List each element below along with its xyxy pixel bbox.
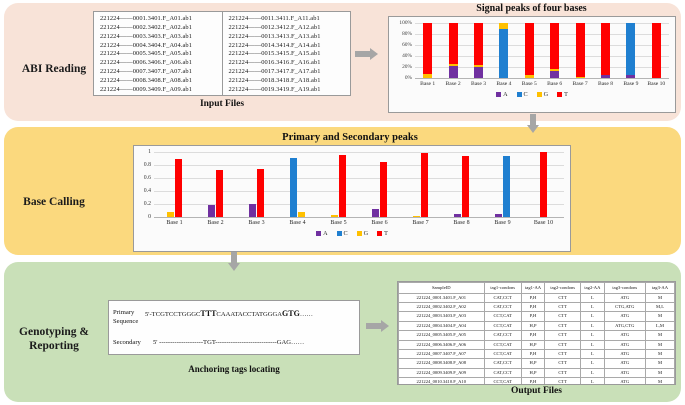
input-file-line: 221224——0005.3405.F_A05.ab1 xyxy=(100,50,218,59)
anchoring-sequence-panel: Primary Sequence 5'-TCGTCCTGGGCTTTCAAATA… xyxy=(108,300,360,355)
table-column-header: tag1-AA xyxy=(521,283,544,294)
y-axis-tick-label: 40% xyxy=(402,53,412,59)
input-file-line: 221224——0013.3413.F_A13.ab1 xyxy=(229,33,347,42)
table-cell: 221224_0004.3404.F_A04 xyxy=(399,321,485,330)
y-axis-tick-label: 0.4 xyxy=(144,188,151,194)
bar-segment-t xyxy=(576,23,585,77)
bar-segment-g xyxy=(576,77,585,78)
bar-segment-t xyxy=(550,23,559,69)
stage-label-base-calling: Base Calling xyxy=(8,195,100,209)
table-cell: L xyxy=(581,293,604,302)
signal-peaks-chart: 0%20%40%60%80%100%Base 1Base 2Base 3Base… xyxy=(388,16,676,113)
table-cell: 221224_0009.3409.F_A09 xyxy=(399,368,485,377)
chart-legend: ACGT xyxy=(134,230,570,237)
bar-segment-g xyxy=(499,23,508,29)
table-row: 221224_0010.3410.F_A10CCT,CATP,HCTTLATGM xyxy=(399,378,675,385)
table-cell: M xyxy=(645,331,674,340)
table-cell: M,L xyxy=(645,303,674,312)
table-cell: L,M xyxy=(645,321,674,330)
secondary-sequence-text: 5' --------------------TGT--------------… xyxy=(153,339,304,346)
table-cell: M xyxy=(645,293,674,302)
table-column-header: tag1-condons xyxy=(484,283,521,294)
primary-tag2: GTG xyxy=(282,309,300,318)
bar-c xyxy=(503,156,510,217)
table-row: 221224_0001.3401.F_A01CAT,CCTP,HCTTLATGM xyxy=(399,293,675,302)
input-file-line: 221224——0004.3404.F_A04.ab1 xyxy=(100,42,218,51)
bar-segment-a xyxy=(474,67,483,78)
table-cell: M xyxy=(645,350,674,359)
bar-a xyxy=(454,214,461,217)
x-axis-tick-label: Base 2 xyxy=(446,81,461,87)
stacked-bar xyxy=(626,23,635,78)
table-cell: H,P xyxy=(521,340,544,349)
legend-item-a: A xyxy=(316,230,327,237)
table-cell: L xyxy=(581,340,604,349)
bar-segment-c xyxy=(626,23,635,75)
bar-t xyxy=(380,162,387,217)
legend-swatch-g xyxy=(537,92,542,97)
table-cell: CAT,CCT xyxy=(484,359,521,368)
input-files-left-column: 221224——0001.3401.F_A01.ab1221224——0002.… xyxy=(94,12,222,95)
arrow-signal-to-basecalling-icon xyxy=(527,114,539,134)
bar-segment-g xyxy=(525,75,534,78)
legend-label-t: T xyxy=(384,230,388,237)
legend-item-a: A xyxy=(496,91,507,98)
bar-segment-t xyxy=(601,23,610,75)
primary-sequence-label2: Sequence xyxy=(113,318,138,325)
bar-segment-t xyxy=(525,23,534,75)
bar-t xyxy=(339,155,346,217)
input-file-line: 221224——0002.3402.F_A02.ab1 xyxy=(100,24,218,33)
arrow-sequence-to-output-icon xyxy=(366,320,390,332)
x-axis-tick-label: Base 7 xyxy=(412,220,428,226)
bar-segment-g xyxy=(550,69,559,71)
legend-label-g: G xyxy=(544,91,548,98)
bar-segment-t xyxy=(423,23,432,74)
table-cell: L xyxy=(581,368,604,377)
bar-a xyxy=(372,209,379,217)
table-cell: CAT,CCT xyxy=(484,303,521,312)
table-cell: CTT xyxy=(545,331,581,340)
table-cell: P,H xyxy=(521,312,544,321)
legend-label-c: C xyxy=(344,230,348,237)
x-axis-tick-label: Base 8 xyxy=(453,220,469,226)
bar-t xyxy=(175,159,182,218)
table-cell: ATG xyxy=(604,368,645,377)
stacked-bar xyxy=(499,23,508,78)
legend-label-a: A xyxy=(323,230,327,237)
primary-tag1: TTT xyxy=(200,309,216,318)
input-file-line: 221224——0001.3401.F_A01.ab1 xyxy=(100,15,218,24)
table-body: 221224_0001.3401.F_A01CAT,CCTP,HCTTLATGM… xyxy=(399,293,675,385)
table-row: 221224_0005.3405.F_A05CAT,CCTP,HCTTLATGM xyxy=(399,331,675,340)
bar-a xyxy=(208,205,215,217)
legend-label-t: T xyxy=(564,91,568,98)
table-cell: CTT xyxy=(545,359,581,368)
table-cell: CAT,CCT xyxy=(484,293,521,302)
table-cell: CTT xyxy=(545,350,581,359)
table-cell: M xyxy=(645,378,674,385)
primary-secondary-peaks-chart: 00.20.40.60.81Base 1Base 2Base 3Base 4Ba… xyxy=(133,145,571,252)
input-file-line: 221224——0015.3415.F_A15.ab1 xyxy=(229,50,347,59)
legend-label-g: G xyxy=(364,230,368,237)
x-axis-line xyxy=(415,78,669,79)
table-cell: P,H xyxy=(521,331,544,340)
table-column-header: tag2-condons xyxy=(545,283,581,294)
table-row: 221224_0003.3403.F_A03CCT,CATP,HCTTLATGM xyxy=(399,312,675,321)
table-header-row: SampleIDtag1-condonstag1-AAtag2-condonst… xyxy=(399,283,675,294)
input-files-panel: 221224——0001.3401.F_A01.ab1221224——0002.… xyxy=(93,11,351,96)
table-cell: L xyxy=(581,350,604,359)
table-cell: L xyxy=(581,312,604,321)
table-cell: M xyxy=(645,359,674,368)
table-row: 221224_0009.3409.F_A09CAT,CCTH,PCTTLATGM xyxy=(399,368,675,377)
legend-swatch-c xyxy=(517,92,522,97)
x-axis-tick-label: Base 8 xyxy=(598,81,613,87)
legend-label-c: C xyxy=(524,91,528,98)
input-files-right-column: 221224——0011.3411.F_A11.ab1221224——0012.… xyxy=(222,12,351,95)
x-axis-tick-label: Base 1 xyxy=(166,220,182,226)
bar-segment-t xyxy=(474,23,483,65)
table-cell: 221224_0010.3410.F_A10 xyxy=(399,378,485,385)
y-axis-tick-label: 0.8 xyxy=(144,162,151,168)
table-cell: 221224_0002.3402.F_A02 xyxy=(399,303,485,312)
bar-g xyxy=(413,216,420,217)
table-cell: CCT,CAT xyxy=(484,350,521,359)
primary-sequence-text: 5'-TCGTCCTGGGCTTTCAAATACCTATGGGAGTG…… xyxy=(145,309,313,318)
input-file-line: 221224——0006.3406.F_A06.ab1 xyxy=(100,59,218,68)
y-axis-tick-label: 100% xyxy=(399,20,412,26)
table-cell: L xyxy=(581,331,604,340)
output-files-table: SampleIDtag1-condonstag1-AAtag2-condonst… xyxy=(397,281,676,385)
bar-a xyxy=(249,204,256,217)
input-file-line: 221224——0009.3409.F_A09.ab1 xyxy=(100,86,218,95)
table-cell: 221224_0008.3408.F_A08 xyxy=(399,359,485,368)
arrow-basecalling-to-genotyping-icon xyxy=(228,252,240,272)
table-cell: H,P xyxy=(521,359,544,368)
bar-segment-a xyxy=(601,75,610,78)
table-cell: CAT,CCT xyxy=(484,368,521,377)
bar-segment-a xyxy=(449,66,458,78)
y-axis-tick-label: 0.6 xyxy=(144,175,151,181)
input-file-line: 221224——0018.3418.F_A18.ab1 xyxy=(229,77,347,86)
output-files-caption: Output Files xyxy=(397,386,676,396)
bar-g xyxy=(167,212,174,217)
table-cell: L xyxy=(581,303,604,312)
secondary-sequence-label: Secondary xyxy=(113,339,141,346)
bar-segment-g xyxy=(474,65,483,67)
x-axis-tick-label: Base 4 xyxy=(289,220,305,226)
stacked-bar xyxy=(601,23,610,78)
input-file-line: 221224——0016.3416.F_A16.ab1 xyxy=(229,59,347,68)
input-file-line: 221224——0007.3407.F_A07.ab1 xyxy=(100,68,218,77)
table-cell: ATG xyxy=(604,350,645,359)
table-cell: L xyxy=(581,378,604,385)
primary-peaks-title: Primary and Secondary peaks xyxy=(128,132,572,143)
table-cell: CCT,CAT xyxy=(484,340,521,349)
x-axis-tick-label: Base 9 xyxy=(494,220,510,226)
stacked-bar xyxy=(449,23,458,78)
table-cell: CTT xyxy=(545,378,581,385)
legend-swatch-t xyxy=(377,231,382,236)
stacked-bar xyxy=(525,23,534,78)
bar-segment-g xyxy=(423,74,432,78)
table-column-header: tag3-condons xyxy=(604,283,645,294)
table-cell: CTT xyxy=(545,293,581,302)
table-cell: CTT xyxy=(545,303,581,312)
gridline xyxy=(154,152,564,153)
x-axis-tick-label: Base 4 xyxy=(496,81,511,87)
input-file-line: 221224——0017.3417.F_A17.ab1 xyxy=(229,68,347,77)
bar-c xyxy=(290,158,297,217)
bar-segment-t xyxy=(652,23,661,78)
x-axis-tick-label: Base 10 xyxy=(534,220,553,226)
table-cell: 221224_0001.3401.F_A01 xyxy=(399,293,485,302)
bar-segment-c xyxy=(499,29,508,79)
legend-item-g: G xyxy=(357,230,368,237)
legend-item-c: C xyxy=(337,230,348,237)
table-cell: CTT xyxy=(545,321,581,330)
x-axis-tick-label: Base 1 xyxy=(420,81,435,87)
y-axis-tick-label: 20% xyxy=(402,64,412,70)
bar-g xyxy=(298,212,305,217)
table-cell: CAT,CCT xyxy=(484,331,521,340)
legend-item-c: C xyxy=(517,91,528,98)
table-cell: CCT,CAT xyxy=(484,378,521,385)
primary-suffix: …… xyxy=(300,311,313,318)
bar-t xyxy=(462,156,469,217)
table-cell: ATG xyxy=(604,312,645,321)
x-axis-tick-label: Base 7 xyxy=(573,81,588,87)
table-cell: CCT,CAT xyxy=(484,321,521,330)
y-axis-tick-label: 1 xyxy=(148,149,151,155)
anchoring-tags-caption: Anchoring tags locating xyxy=(108,364,360,374)
table-cell: L xyxy=(581,321,604,330)
stacked-bar xyxy=(576,23,585,78)
table-cell: CTG,ATG xyxy=(604,303,645,312)
input-file-line: 221224——0008.3408.F_A08.ab1 xyxy=(100,77,218,86)
signal-peaks-title: Signal peaks of four bases xyxy=(385,3,678,14)
table-row: 221224_0004.3404.F_A04CCT,CATH,PCTTLATG,… xyxy=(399,321,675,330)
x-axis-tick-label: Base 3 xyxy=(248,220,264,226)
bar-g xyxy=(331,215,338,217)
stacked-bar xyxy=(652,23,661,78)
x-axis-tick-label: Base 5 xyxy=(330,220,346,226)
table-cell: 221224_0007.3407.F_A07 xyxy=(399,350,485,359)
table-cell: 221224_0006.3406.F_A06 xyxy=(399,340,485,349)
stacked-bar xyxy=(550,23,559,78)
legend-swatch-a xyxy=(496,92,501,97)
primary-sequence-label: Primary xyxy=(113,309,134,316)
table-cell: P,H xyxy=(521,293,544,302)
x-axis-tick-label: Base 6 xyxy=(547,81,562,87)
y-axis-tick-label: 0.2 xyxy=(144,201,151,207)
table-row: 221224_0006.3406.F_A06CCT,CATH,PCTTLATGM xyxy=(399,340,675,349)
bar-segment-a xyxy=(626,75,635,78)
arrow-input-to-signal-icon xyxy=(355,48,379,60)
table-cell: 221224_0005.3405.F_A05 xyxy=(399,331,485,340)
bar-segment-a xyxy=(550,71,559,78)
chart-legend: ACGT xyxy=(389,91,675,98)
input-file-line: 221224——0012.3412.F_A12.ab1 xyxy=(229,24,347,33)
y-axis-tick-label: 80% xyxy=(402,31,412,37)
y-axis-tick-label: 60% xyxy=(402,42,412,48)
x-axis-tick-label: Base 5 xyxy=(522,81,537,87)
primary-mid: CAAATACCTATGGGA xyxy=(216,311,282,318)
table-column-header: tag2-AA xyxy=(581,283,604,294)
table-cell: M xyxy=(645,368,674,377)
input-file-line: 221224——0003.3403.F_A03.ab1 xyxy=(100,33,218,42)
primary-prefix: 5'-TCGTCCTGGGC xyxy=(145,311,200,318)
bar-segment-g xyxy=(449,64,458,66)
y-axis-tick-label: 0% xyxy=(405,75,412,81)
legend-label-a: A xyxy=(503,91,507,98)
stacked-bar xyxy=(474,23,483,78)
table-cell: ATG xyxy=(604,359,645,368)
table-cell: CTT xyxy=(545,312,581,321)
input-file-line: 221224——0011.3411.F_A11.ab1 xyxy=(229,15,347,24)
table-cell: L xyxy=(581,359,604,368)
x-axis-tick-label: Base 3 xyxy=(471,81,486,87)
input-file-line: 221224——0014.3414.F_A14.ab1 xyxy=(229,42,347,51)
table-cell: CCT,CAT xyxy=(484,312,521,321)
legend-swatch-a xyxy=(316,231,321,236)
output-table-element: SampleIDtag1-condonstag1-AAtag2-condonst… xyxy=(398,282,675,385)
table-column-header: SampleID xyxy=(399,283,485,294)
table-column-header: tag3-AA xyxy=(645,283,674,294)
bar-t xyxy=(540,152,547,217)
legend-swatch-c xyxy=(337,231,342,236)
x-axis-tick-label: Base 10 xyxy=(647,81,665,87)
bar-t xyxy=(216,170,223,217)
signal-peaks-plot-area: 0%20%40%60%80%100%Base 1Base 2Base 3Base… xyxy=(389,17,675,112)
table-row: 221224_0002.3402.F_A02CAT,CCTP,HCTTLCTG,… xyxy=(399,303,675,312)
x-axis-tick-label: Base 6 xyxy=(371,220,387,226)
bar-t xyxy=(257,169,264,217)
table-cell: P,H xyxy=(521,303,544,312)
table-cell: ATG xyxy=(604,293,645,302)
table-cell: H,P xyxy=(521,368,544,377)
table-cell: M xyxy=(645,340,674,349)
table-cell: ATG xyxy=(604,331,645,340)
stage-label-abi-reading: ABI Reading xyxy=(8,62,100,76)
legend-item-t: T xyxy=(377,230,388,237)
table-cell: P,H xyxy=(521,378,544,385)
primary-peaks-plot-area: 00.20.40.60.81Base 1Base 2Base 3Base 4Ba… xyxy=(134,146,570,251)
table-cell: CTT xyxy=(545,368,581,377)
bar-segment-t xyxy=(449,23,458,64)
table-cell: M xyxy=(645,312,674,321)
legend-item-g: G xyxy=(537,91,548,98)
legend-item-t: T xyxy=(557,91,568,98)
table-cell: 221224_0003.3403.F_A03 xyxy=(399,312,485,321)
y-axis-tick-label: 0 xyxy=(148,214,151,220)
input-files-caption: Input Files xyxy=(93,99,351,109)
legend-swatch-g xyxy=(357,231,362,236)
table-cell: P,H xyxy=(521,350,544,359)
stage-label-genotyping: Genotyping & Reporting xyxy=(8,325,100,354)
input-file-line: 221224——0019.3419.F_A19.ab1 xyxy=(229,86,347,95)
x-axis-line xyxy=(154,217,564,218)
legend-swatch-t xyxy=(557,92,562,97)
stacked-bar xyxy=(423,23,432,78)
table-row: 221224_0008.3408.F_A08CAT,CCTH,PCTTLATGM xyxy=(399,359,675,368)
x-axis-tick-label: Base 2 xyxy=(207,220,223,226)
bar-a xyxy=(495,214,502,217)
x-axis-tick-label: Base 9 xyxy=(623,81,638,87)
table-cell: H,P xyxy=(521,321,544,330)
bar-t xyxy=(421,153,428,217)
table-row: 221224_0007.3407.F_A07CCT,CATP,HCTTLATGM xyxy=(399,350,675,359)
table-cell: ATG xyxy=(604,378,645,385)
table-cell: ATG xyxy=(604,340,645,349)
table-cell: ATG,CTG xyxy=(604,321,645,330)
table-cell: CTT xyxy=(545,340,581,349)
